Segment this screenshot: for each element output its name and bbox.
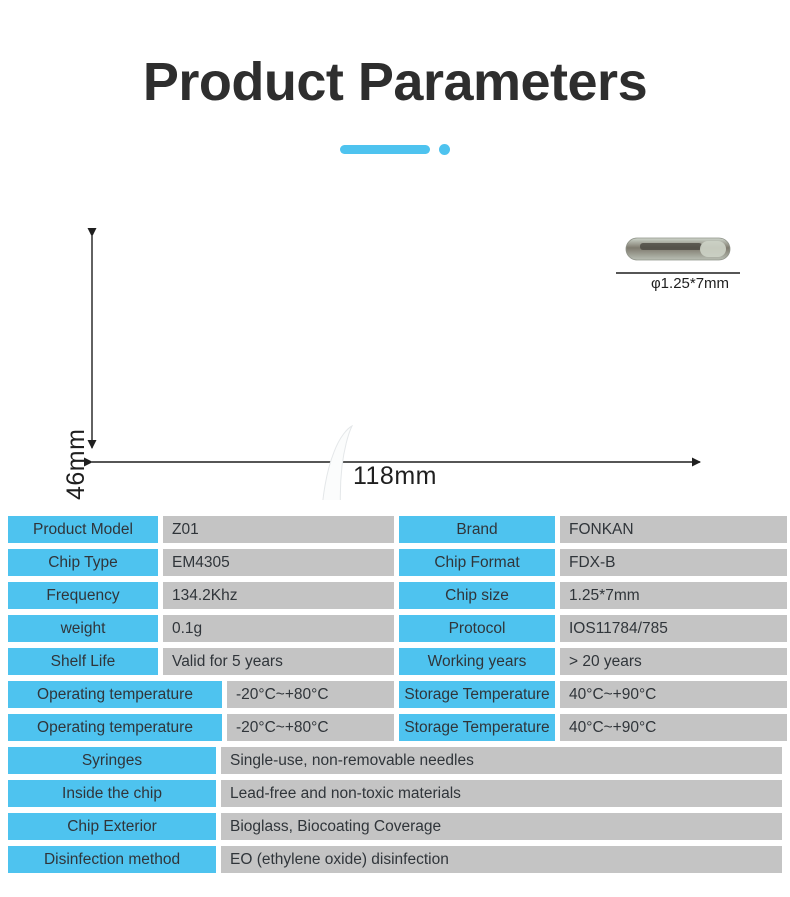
spec-label: Operating temperature: [8, 681, 222, 708]
table-row: Operating temperature -20°C~+80°C Storag…: [8, 681, 782, 708]
table-row: Chip Type EM4305 Chip Format FDX-B: [8, 549, 782, 576]
spec-label: Product Model: [8, 516, 158, 543]
spec-value: FDX-B: [560, 549, 787, 576]
table-row: Syringes Single-use, non-removable needl…: [8, 747, 782, 774]
spec-value: 0.1g: [163, 615, 394, 642]
syringe-diagram-svg: [0, 200, 790, 500]
spec-value: 134.2Khz: [163, 582, 394, 609]
spec-value: Bioglass, Biocoating Coverage: [221, 813, 782, 840]
spec-label: Storage Temperature: [399, 714, 555, 741]
spec-value: IOS11784/785: [560, 615, 787, 642]
spec-value: > 20 years: [560, 648, 787, 675]
spec-value: 40°C~+90°C: [560, 681, 787, 708]
spec-label: Chip Format: [399, 549, 555, 576]
table-row: Product Model Z01 Brand FONKAN: [8, 516, 782, 543]
spec-value: FONKAN: [560, 516, 787, 543]
spec-label: Protocol: [399, 615, 555, 642]
page-title: Product Parameters: [0, 50, 790, 114]
spec-value: -20°C~+80°C: [227, 714, 394, 741]
spec-value: 40°C~+90°C: [560, 714, 787, 741]
spec-value: Single-use, non-removable needles: [221, 747, 782, 774]
spec-label: Inside the chip: [8, 780, 216, 807]
spec-value: 1.25*7mm: [560, 582, 787, 609]
spec-label: weight: [8, 615, 158, 642]
dimension-arrows: [92, 236, 700, 462]
spec-label: Shelf Life: [8, 648, 158, 675]
title-divider: [0, 142, 790, 156]
spec-label: Chip size: [399, 582, 555, 609]
spec-label: Brand: [399, 516, 555, 543]
spec-label: Operating temperature: [8, 714, 222, 741]
microchip-capsule-graphic: [616, 238, 740, 273]
spec-label: Working years: [399, 648, 555, 675]
spec-label: Disinfection method: [8, 846, 216, 873]
spec-value: Lead-free and non-toxic materials: [221, 780, 782, 807]
spec-label: Chip Type: [8, 549, 158, 576]
width-dimension-label: 118mm: [0, 462, 790, 491]
spec-value: Valid for 5 years: [163, 648, 394, 675]
table-row: Frequency 134.2Khz Chip size 1.25*7mm: [8, 582, 782, 609]
table-row: Disinfection method EO (ethylene oxide) …: [8, 846, 782, 873]
spec-label: Storage Temperature: [399, 681, 555, 708]
chip-dimension-label: φ1.25*7mm: [600, 275, 780, 292]
spec-value: EM4305: [163, 549, 394, 576]
table-row: Chip Exterior Bioglass, Biocoating Cover…: [8, 813, 782, 840]
specification-table: Product Model Z01 Brand FONKAN Chip Type…: [8, 516, 782, 879]
table-row: Operating temperature -20°C~+80°C Storag…: [8, 714, 782, 741]
spec-value: EO (ethylene oxide) disinfection: [221, 846, 782, 873]
divider-bar-icon: [340, 145, 430, 154]
divider-dot-icon: [439, 144, 450, 155]
spec-value: Z01: [163, 516, 394, 543]
spec-value: -20°C~+80°C: [227, 681, 394, 708]
spec-label: Frequency: [8, 582, 158, 609]
spec-label: Chip Exterior: [8, 813, 216, 840]
table-row: Shelf Life Valid for 5 years Working yea…: [8, 648, 782, 675]
table-row: weight 0.1g Protocol IOS11784/785: [8, 615, 782, 642]
product-illustration: 46mm: [0, 200, 790, 500]
table-row: Inside the chip Lead-free and non-toxic …: [8, 780, 782, 807]
spec-label: Syringes: [8, 747, 216, 774]
